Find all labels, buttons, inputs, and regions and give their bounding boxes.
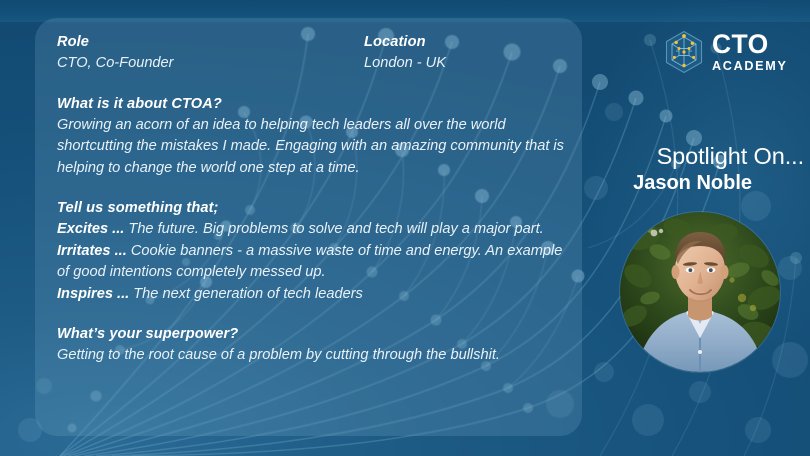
superpower-block: What’s your superpower? Getting to the r… — [57, 324, 573, 367]
role-value: CTO, Co-Founder — [57, 53, 364, 75]
tell-us-item-irritates: Irritates ... Cookie banners - a massive… — [57, 241, 571, 284]
about-block: What is it about CTOA? Growing an acorn … — [57, 94, 573, 180]
spotlight-slide: Role CTO, Co-Founder Location London - U… — [0, 0, 810, 456]
location-block: Location London - UK — [364, 32, 577, 75]
excites-label: Excites ... — [57, 221, 124, 237]
irritates-label: Irritates ... — [57, 243, 127, 259]
spacer — [57, 179, 577, 198]
cto-academy-logo: CTO ACADEMY — [664, 25, 804, 79]
person-name: Jason Noble — [588, 171, 804, 196]
role-location-row: Role CTO, Co-Founder Location London - U… — [57, 32, 577, 75]
spacer — [57, 75, 577, 94]
profile-card-content: Role CTO, Co-Founder Location London - U… — [57, 32, 577, 367]
role-block: Role CTO, Co-Founder — [57, 32, 364, 75]
irritates-value: Cookie banners - a massive waste of time… — [57, 243, 562, 281]
excites-value: The future. Big problems to solve and te… — [128, 221, 543, 237]
inspires-value: The next generation of tech leaders — [133, 286, 363, 302]
superpower-answer: Getting to the root cause of a problem b… — [57, 345, 571, 367]
about-question: What is it about CTOA? — [57, 94, 573, 115]
spotlight-label: Spotlight On... — [588, 143, 804, 170]
role-label: Role — [57, 32, 364, 53]
about-answer: Growing an acorn of an idea to helping t… — [57, 115, 571, 180]
spacer — [57, 305, 577, 324]
tell-us-item-excites: Excites ... The future. Big problems to … — [57, 219, 571, 241]
inspires-label: Inspires ... — [57, 286, 129, 302]
tell-us-heading: Tell us something that; — [57, 198, 573, 219]
avatar — [620, 212, 780, 372]
location-value: London - UK — [364, 53, 577, 75]
logo-secondary-text: ACADEMY — [712, 60, 788, 73]
tell-us-block: Tell us something that; Excites ... The … — [57, 198, 573, 305]
tell-us-item-inspires: Inspires ... The next generation of tech… — [57, 284, 571, 306]
spotlight-heading: Spotlight On... Jason Noble — [588, 143, 804, 196]
logo-primary-text: CTO — [712, 31, 788, 58]
hexagon-circuit-icon — [664, 30, 704, 74]
location-label: Location — [364, 32, 577, 53]
logo-wordmark: CTO ACADEMY — [712, 31, 788, 73]
superpower-question: What’s your superpower? — [57, 324, 573, 345]
